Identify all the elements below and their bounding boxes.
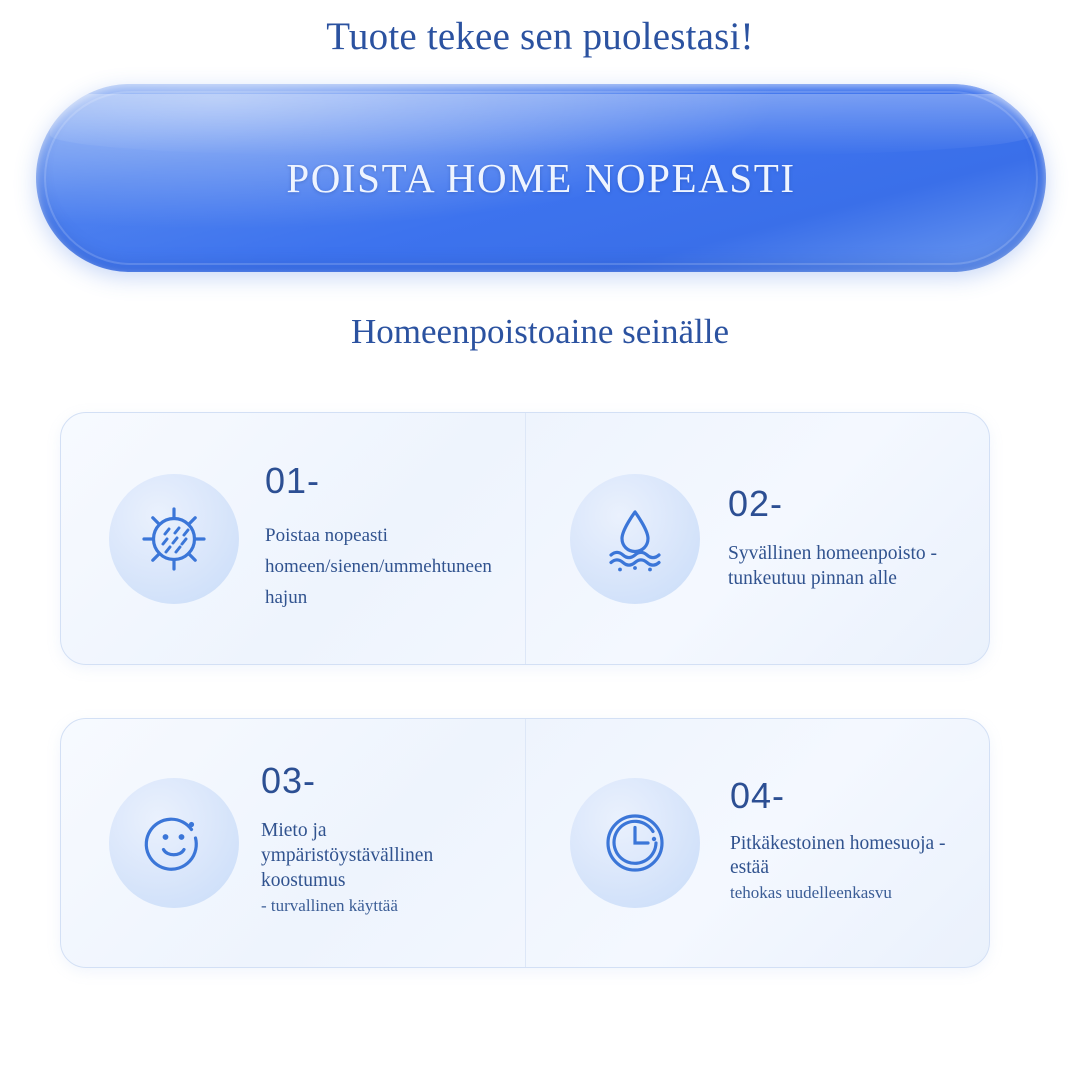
feature-card-01[interactable]: 01- Poistaa nopeasti homeen/sienen/ummeh…: [61, 413, 525, 664]
feature-card-body: 02- Syvällinen homeenpoisto - tunkeutuu …: [728, 486, 966, 592]
feature-card-body: 03- Mieto ja ympäristöystävällinen koost…: [261, 763, 499, 917]
feature-card-text: Mieto ja ympäristöystävällinen koostumus: [261, 819, 493, 894]
feature-card-number: 02-: [728, 486, 960, 522]
feature-card-subtext: - turvallinen käyttää: [261, 895, 493, 917]
feature-card-body: 04- Pitkäkestoinen homesuoja - estää teh…: [730, 778, 968, 905]
subtitle: Homeenpoistoaine seinälle: [0, 312, 1080, 352]
feature-card-03[interactable]: 03- Mieto ja ympäristöystävällinen koost…: [61, 719, 525, 967]
feature-card-text: Poistaa nopeasti homeen/sienen/ummehtune…: [265, 521, 505, 613]
feature-card-04[interactable]: 04- Pitkäkestoinen homesuoja - estää teh…: [525, 719, 989, 967]
feature-card-number: 03-: [261, 763, 493, 799]
page-title: Tuote tekee sen puolestasi!: [0, 14, 1080, 59]
feature-card-text: Pitkäkestoinen homesuoja - estää: [730, 832, 962, 882]
hero-cta-label: POISTA HOME NOPEASTI: [286, 154, 795, 202]
water-drop-icon: [570, 474, 700, 604]
clock-icon: [570, 778, 700, 908]
virus-icon: [109, 474, 239, 604]
feature-card-row-top: 01- Poistaa nopeasti homeen/sienen/ummeh…: [60, 412, 990, 665]
feature-card-subtext: tehokas uudelleenkasvu: [730, 882, 962, 904]
feature-card-02[interactable]: 02- Syvällinen homeenpoisto - tunkeutuu …: [525, 413, 989, 664]
feature-card-number: 04-: [730, 778, 962, 814]
feature-card-row-bottom: 03- Mieto ja ympäristöystävällinen koost…: [60, 718, 990, 968]
hero-cta-button[interactable]: POISTA HOME NOPEASTI: [36, 84, 1046, 272]
feature-card-body: 01- Poistaa nopeasti homeen/sienen/ummeh…: [265, 463, 511, 613]
feature-card-text: Syvällinen homeenpoisto - tunkeutuu pinn…: [728, 542, 960, 592]
feature-card-number: 01-: [265, 463, 505, 499]
smiley-face-icon: [109, 778, 239, 908]
